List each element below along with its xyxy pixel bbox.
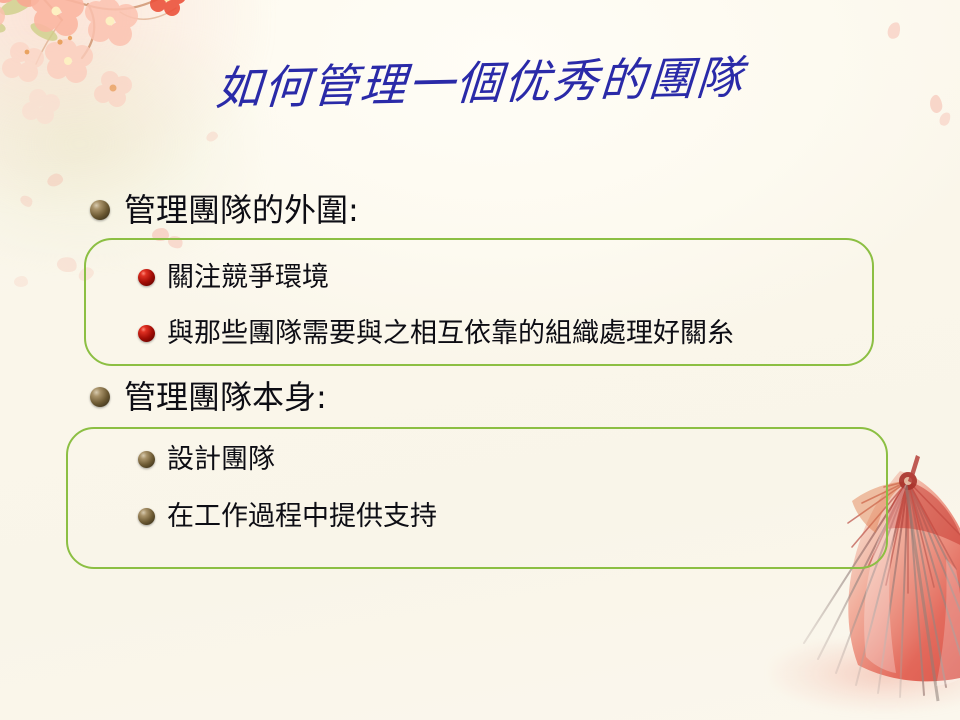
bronze-sphere-bullet-icon [138,508,155,525]
section-heading-row[interactable]: 管理團隊的外圍: [90,194,359,226]
list-item-label: 設計團隊 [167,446,275,473]
red-sphere-bullet-icon [138,269,155,286]
bronze-sphere-bullet-icon [90,387,110,407]
list-item[interactable]: 在工作過程中提供支持 [138,503,437,530]
section-heading-row[interactable]: 管理團隊本身: [90,381,327,413]
list-item-label: 與那些團隊需要與之相互依靠的組織處理好關糸 [167,320,734,347]
bronze-sphere-bullet-icon [138,451,155,468]
slide-content: 管理團隊的外圍: 關注競爭環境 與那些團隊需要與之相互依靠的組織處理好關糸 管理… [0,0,960,720]
red-sphere-bullet-icon [138,325,155,342]
list-item[interactable]: 與那些團隊需要與之相互依靠的組織處理好關糸 [138,320,734,347]
bronze-sphere-bullet-icon [90,200,110,220]
list-item[interactable]: 設計團隊 [138,446,275,473]
section-heading-label: 管理團隊的外圍: [124,194,359,226]
list-item-label: 在工作過程中提供支持 [167,503,437,530]
list-item-label: 關注競爭環境 [167,264,329,291]
slide-canvas: 如何管理一個优秀的團隊 管理團隊的外圍: 關注競爭環境 與那些團隊需要與之相互依… [0,0,960,720]
list-item[interactable]: 關注競爭環境 [138,264,329,291]
section-heading-label: 管理團隊本身: [124,381,327,413]
